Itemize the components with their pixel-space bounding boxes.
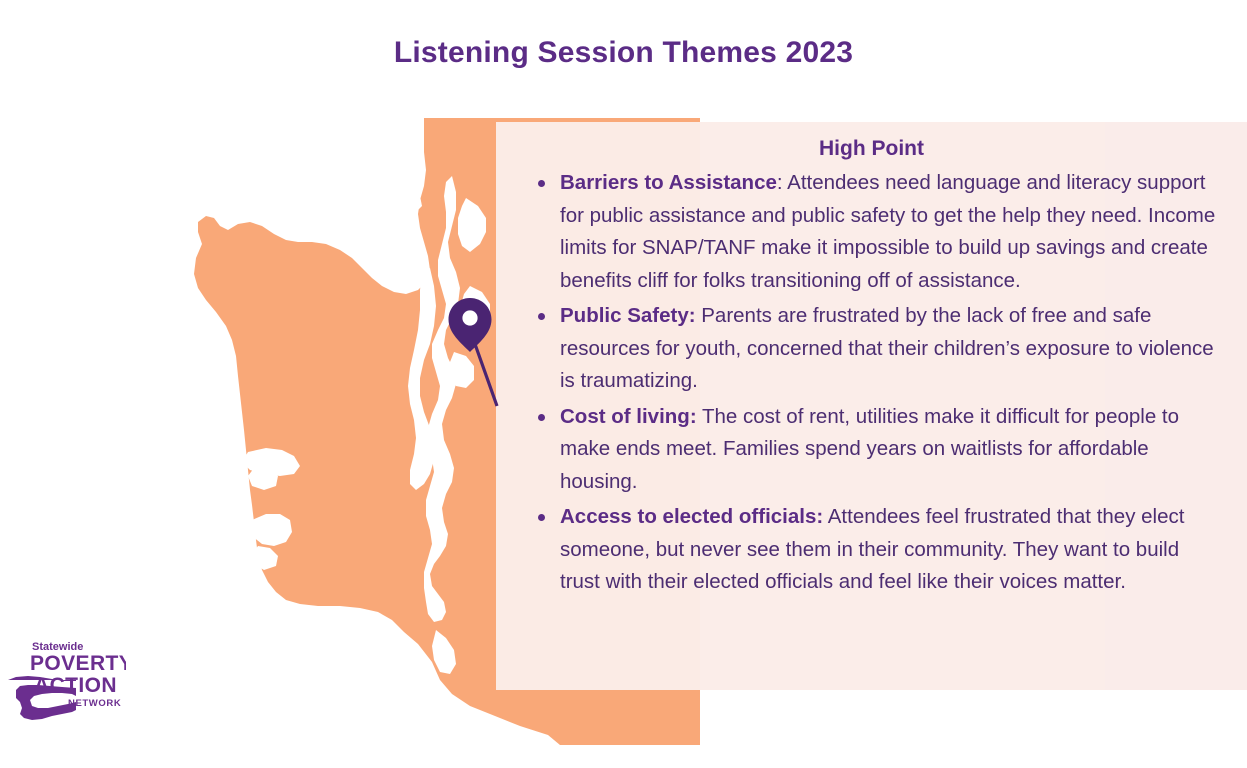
list-item: Barriers to Assistance: Attendees need l… <box>532 167 1217 297</box>
list-item: Public Safety: Parents are frustrated by… <box>532 300 1217 398</box>
logo-line-network: NETWORK <box>68 698 121 709</box>
list-item: Access to elected officials: Attendees f… <box>532 501 1217 599</box>
page-title: Listening Session Themes 2023 <box>0 36 1247 70</box>
pin-inner-dot <box>462 310 477 325</box>
theme-label: Public Safety: <box>560 304 696 327</box>
theme-label: Cost of living: <box>560 405 697 428</box>
bullet-icon <box>538 313 545 320</box>
list-item: Cost of living: The cost of rent, utilit… <box>532 401 1217 499</box>
slide-canvas: Listening Session Themes 2023 <box>0 0 1247 768</box>
theme-label: Access to elected officials: <box>560 505 823 528</box>
section-heading: High Point <box>496 122 1247 161</box>
logo-line-poverty: POVERTY <box>30 652 126 675</box>
bullet-icon <box>538 414 545 421</box>
themes-panel: High Point Barriers to Assistance: Atten… <box>496 122 1247 690</box>
logo-line-action: ACTION <box>34 674 117 697</box>
bullet-icon <box>538 180 545 187</box>
pin-leader-line <box>470 330 497 406</box>
organization-logo: Statewide POVERTY ACTION NETWORK <box>6 636 126 722</box>
theme-label: Barriers to Assistance <box>560 171 777 194</box>
map-pin-icon[interactable] <box>449 298 492 352</box>
themes-list: Barriers to Assistance: Attendees need l… <box>496 167 1247 599</box>
bullet-icon <box>538 514 545 521</box>
